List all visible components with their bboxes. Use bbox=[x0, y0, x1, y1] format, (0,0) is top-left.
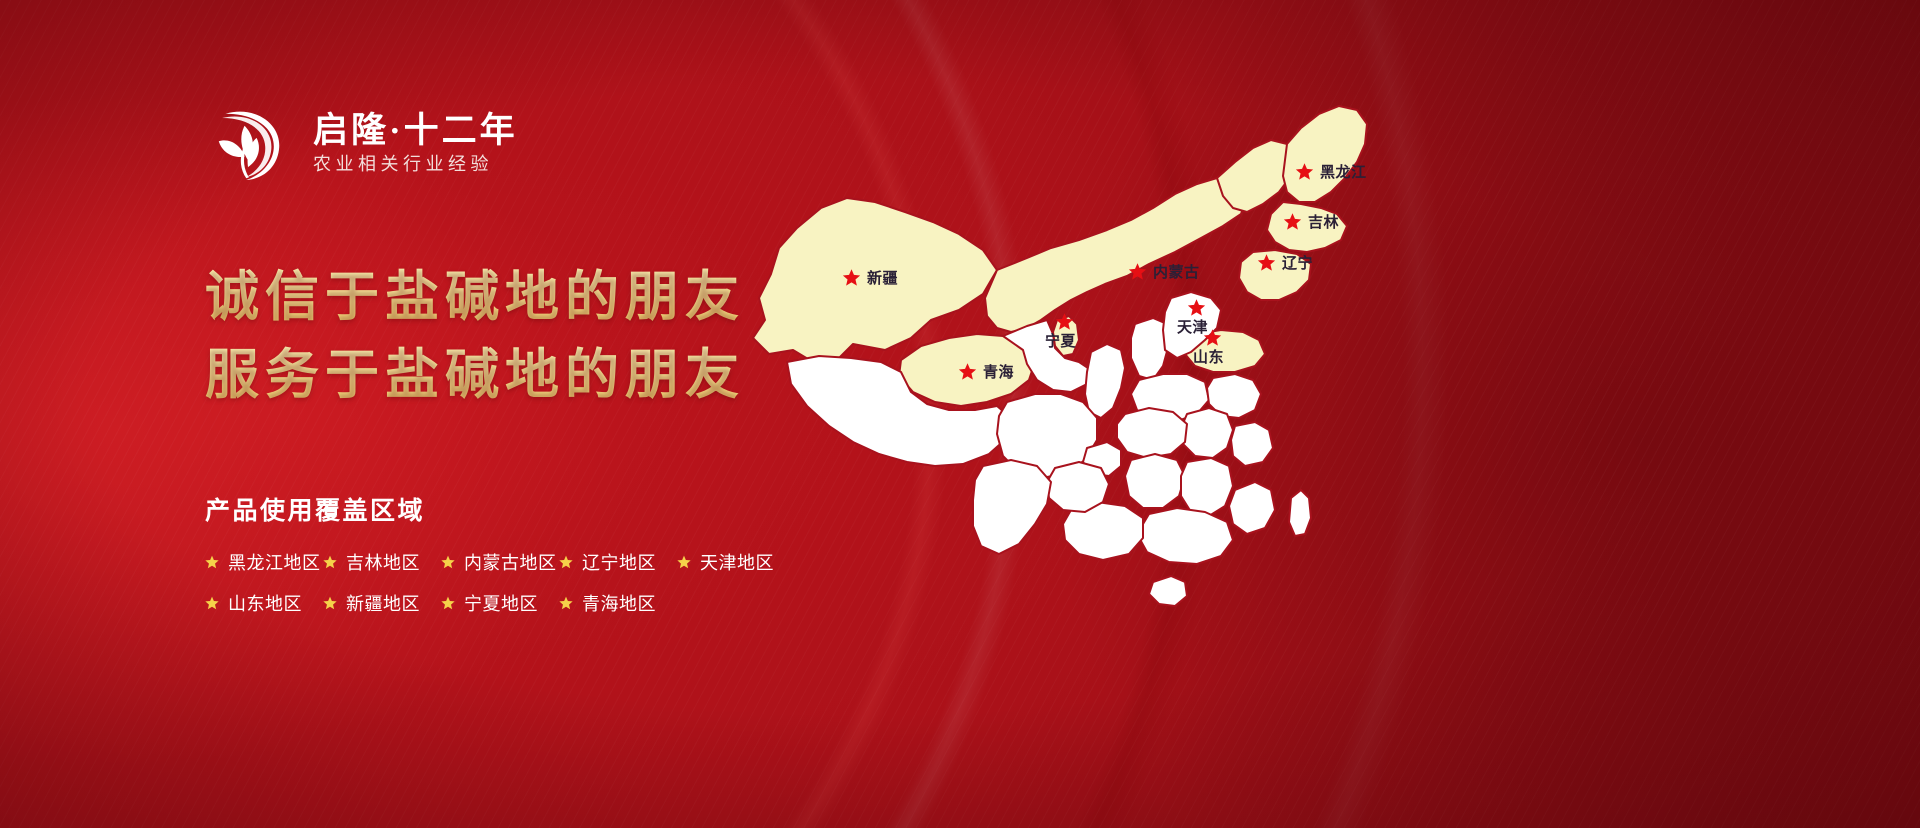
list-item: 天津地区 bbox=[677, 549, 795, 575]
list-item: 黑龙江地区 bbox=[205, 549, 323, 575]
map-marker-label: 吉林 bbox=[1308, 213, 1340, 231]
star-icon bbox=[205, 555, 219, 569]
star-icon bbox=[441, 596, 455, 610]
list-item: 宁夏地区 bbox=[441, 590, 559, 616]
headline-line-2: 服务于盐碱地的朋友 bbox=[205, 336, 1065, 414]
province-taiwan bbox=[1289, 490, 1311, 536]
star-icon bbox=[677, 555, 691, 569]
headline: 诚信于盐碱地的朋友 服务于盐碱地的朋友 bbox=[205, 258, 1065, 415]
list-item: 山东地区 bbox=[205, 590, 323, 616]
star-icon bbox=[559, 555, 573, 569]
province-anhui bbox=[1181, 408, 1233, 458]
brand-lockup: 启隆·十二年 农业相关行业经验 bbox=[205, 100, 1065, 186]
list-item: 青海地区 bbox=[559, 590, 677, 616]
lotus-leaf-circle-icon bbox=[205, 100, 291, 186]
province-guangdong bbox=[1137, 508, 1233, 564]
map-marker-label: 辽宁 bbox=[1282, 254, 1313, 272]
promo-banner: 启隆·十二年 农业相关行业经验 诚信于盐碱地的朋友 服务于盐碱地的朋友 产品使用… bbox=[0, 0, 1920, 828]
list-item-label: 宁夏地区 bbox=[464, 590, 538, 616]
star-icon bbox=[205, 596, 219, 610]
list-item: 辽宁地区 bbox=[559, 549, 677, 575]
map-marker-label: 黑龙江 bbox=[1320, 163, 1367, 181]
star-icon bbox=[323, 596, 337, 610]
list-item: 新疆地区 bbox=[323, 590, 441, 616]
list-item-label: 黑龙江地区 bbox=[228, 549, 321, 575]
province-hainan bbox=[1149, 576, 1187, 606]
coverage-region-list: 黑龙江地区 吉林地区 内蒙古地区 辽宁地区 天津地区 山东地区 bbox=[205, 549, 825, 616]
brand-tagline: 农业相关行业经验 bbox=[313, 154, 518, 176]
star-icon bbox=[441, 555, 455, 569]
map-marker-label: 天津 bbox=[1177, 318, 1208, 336]
province-zhejiang bbox=[1231, 422, 1273, 466]
list-item: 内蒙古地区 bbox=[441, 549, 559, 575]
province-shaanxi bbox=[1085, 344, 1125, 418]
list-item: 吉林地区 bbox=[323, 549, 441, 575]
list-item-label: 山东地区 bbox=[228, 590, 302, 616]
star-icon bbox=[559, 596, 573, 610]
list-item-label: 天津地区 bbox=[700, 549, 774, 575]
list-item-label: 内蒙古地区 bbox=[464, 549, 557, 575]
star-icon bbox=[323, 555, 337, 569]
list-item-label: 新疆地区 bbox=[346, 590, 420, 616]
list-item-label: 青海地区 bbox=[582, 590, 656, 616]
coverage-title: 产品使用覆盖区域 bbox=[205, 491, 1065, 527]
map-marker-label: 内蒙古 bbox=[1153, 263, 1200, 281]
province-heilongjiang bbox=[1283, 106, 1367, 202]
list-item-label: 吉林地区 bbox=[346, 549, 420, 575]
headline-line-1: 诚信于盐碱地的朋友 bbox=[205, 258, 1065, 336]
brand-name: 启隆·十二年 bbox=[313, 111, 518, 150]
brand-text: 启隆·十二年 农业相关行业经验 bbox=[313, 111, 518, 176]
province-fujian bbox=[1229, 482, 1275, 534]
province-jiangxi bbox=[1181, 458, 1233, 516]
province-hunan bbox=[1125, 454, 1185, 508]
banner-content: 启隆·十二年 农业相关行业经验 诚信于盐碱地的朋友 服务于盐碱地的朋友 产品使用… bbox=[205, 100, 1065, 616]
province-hubei bbox=[1117, 408, 1187, 458]
list-item-label: 辽宁地区 bbox=[582, 549, 656, 575]
map-marker-label: 山东 bbox=[1193, 348, 1224, 366]
